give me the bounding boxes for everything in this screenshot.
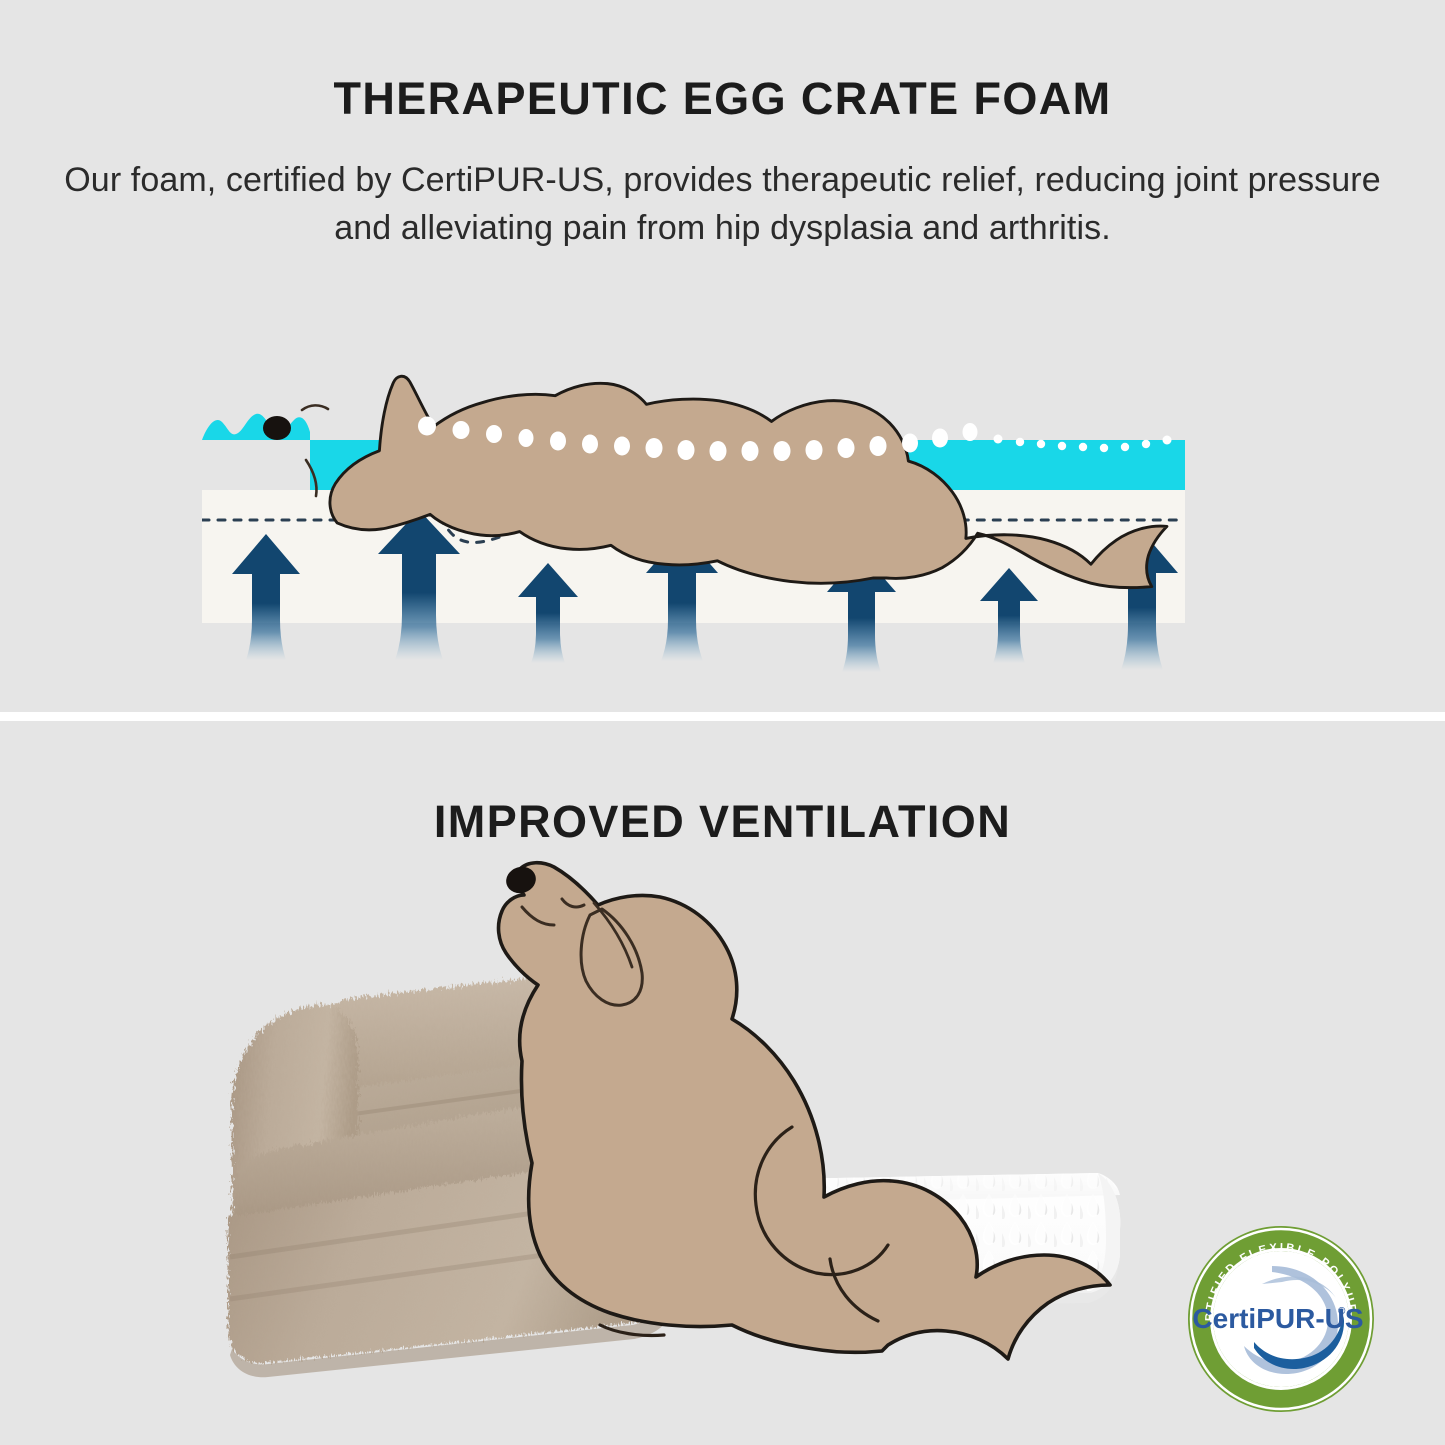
certipur-us-seal: CONTAINS CERTIFIED FLEXIBLE POLYURETHANE… bbox=[1186, 1224, 1376, 1414]
product-feature-infographic: THERAPEUTIC EGG CRATE FOAM Our foam, cer… bbox=[0, 0, 1445, 1445]
foam-cross-section-diagram bbox=[190, 320, 1260, 690]
seal-registered-mark: ® bbox=[1338, 1306, 1346, 1317]
dog-eye bbox=[302, 405, 328, 410]
panel-divider bbox=[0, 712, 1445, 721]
panel-therapeutic-foam: THERAPEUTIC EGG CRATE FOAM Our foam, cer… bbox=[0, 0, 1445, 712]
page-title-therapeutic-foam: THERAPEUTIC EGG CRATE FOAM bbox=[0, 73, 1445, 125]
dog-nose bbox=[263, 416, 291, 440]
dog-illustration-sitting bbox=[499, 863, 1110, 1359]
page-title-improved-ventilation: IMPROVED VENTILATION bbox=[0, 796, 1445, 848]
description-therapeutic-foam: Our foam, certified by CertiPUR-US, prov… bbox=[50, 156, 1395, 252]
ventilation-scene bbox=[170, 855, 1300, 1385]
